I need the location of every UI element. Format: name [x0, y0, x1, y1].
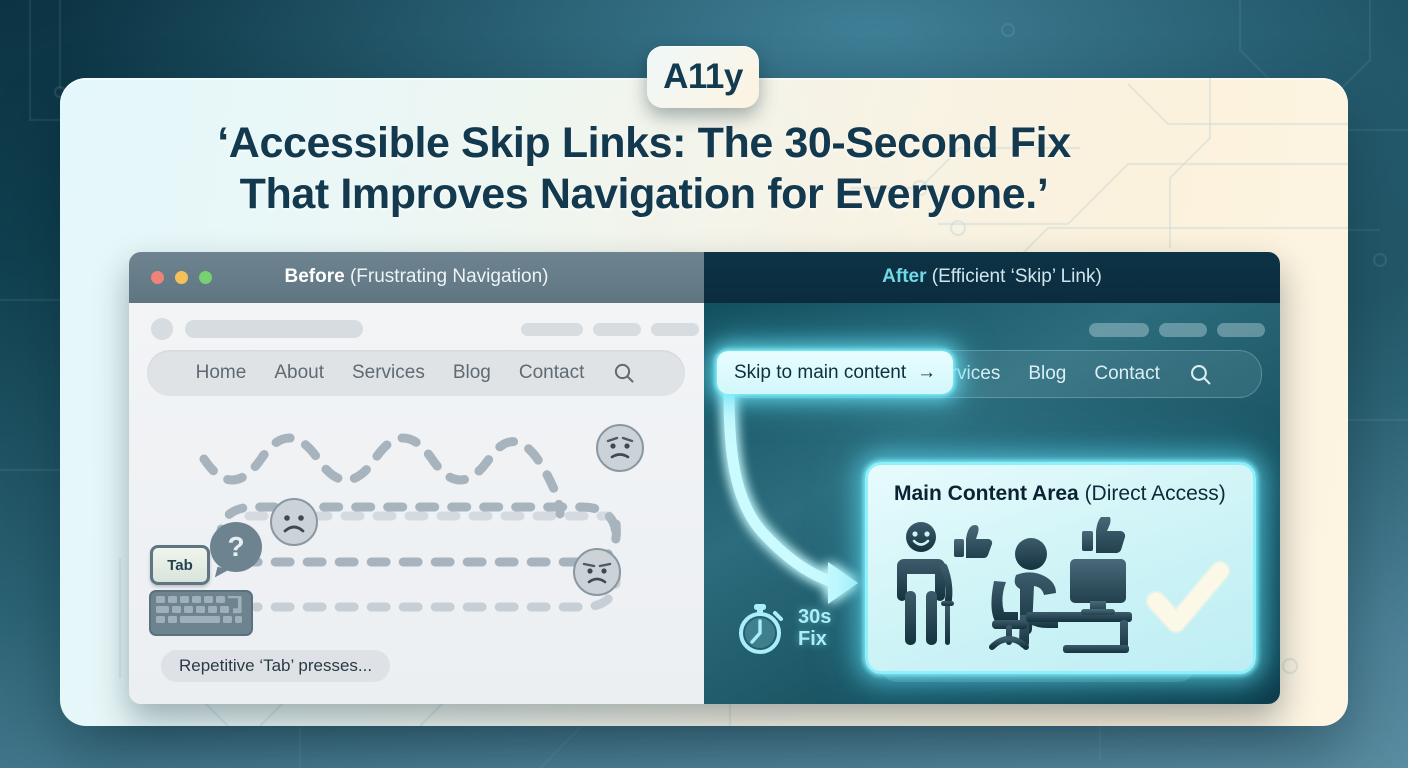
before-titlebar: Before (Frustrating Navigation) — [129, 252, 704, 303]
search-icon[interactable] — [612, 361, 636, 385]
before-nav-item-1[interactable]: About — [274, 362, 324, 384]
thumbs-up-icon-2 — [1082, 517, 1125, 553]
header-placeholder-2 — [1159, 323, 1207, 337]
timer-indicator: 30s Fix — [732, 599, 831, 657]
header-placeholder-3 — [1217, 323, 1265, 337]
timer-text: 30s Fix — [798, 606, 831, 650]
after-body: Home About Services Blog Contact — [704, 303, 1280, 704]
header-placeholder-1 — [1089, 323, 1149, 337]
header-placeholder-1 — [521, 323, 583, 336]
frustrated-face-1 — [596, 424, 644, 472]
after-nav-item-3[interactable]: Blog — [1028, 363, 1066, 385]
after-placeholder-row — [704, 316, 1280, 342]
after-title: After (Efficient ‘Skip’ Link) — [704, 266, 1280, 288]
after-nav-item-4[interactable]: Contact — [1094, 363, 1159, 385]
person-with-cane-icon — [897, 522, 954, 645]
before-nav-item-4[interactable]: Contact — [519, 362, 584, 384]
before-nav-item-2[interactable]: Services — [352, 362, 425, 384]
frustrated-face-3 — [573, 548, 621, 596]
tab-key-icon: Tab — [150, 545, 210, 585]
after-title-rest: (Efficient ‘Skip’ Link) — [927, 266, 1102, 287]
screenshot-root: A11y ‘Accessible Skip Links: The 30-Seco… — [0, 0, 1408, 768]
after-title-bold: After — [882, 266, 926, 287]
arrow-right-icon: → — [917, 362, 936, 384]
a11y-badge-label: A11y — [663, 57, 743, 97]
after-pane: After (Efficient ‘Skip’ Link) Home About… — [704, 252, 1280, 704]
accessibility-illustration — [888, 517, 1233, 657]
before-pane: Before (Frustrating Navigation) Home Abo… — [129, 252, 704, 704]
page-title-line1: ‘Accessible Skip Links: The 30-Second Fi… — [120, 118, 1168, 169]
main-content-area: Main Content Area (Direct Access) — [865, 462, 1256, 674]
before-caption: Repetitive ‘Tab’ presses... — [161, 650, 390, 682]
page-title-line2: That Improves Navigation for Everyone.’ — [120, 169, 1168, 220]
before-nav-item-0[interactable]: Home — [196, 362, 247, 384]
main-content-title-rest: (Direct Access) — [1079, 482, 1226, 505]
before-navbar: Home About Services Blog Contact — [147, 350, 685, 396]
browser-comparison: Before (Frustrating Navigation) Home Abo… — [129, 252, 1280, 704]
stopwatch-icon — [732, 599, 788, 657]
before-title: Before (Frustrating Navigation) — [129, 266, 704, 288]
checkmark-icon — [1156, 571, 1220, 623]
after-titlebar: After (Efficient ‘Skip’ Link) — [704, 252, 1280, 303]
header-placeholder-3 — [651, 323, 699, 336]
page-title: ‘Accessible Skip Links: The 30-Second Fi… — [120, 118, 1168, 220]
question-mark-label: ? — [227, 531, 244, 563]
timer-unit: Fix — [798, 628, 831, 650]
tab-key-label: Tab — [167, 557, 193, 574]
search-icon[interactable] — [1188, 362, 1213, 387]
sad-face-2 — [270, 498, 318, 546]
main-content-title-bold: Main Content Area — [894, 482, 1079, 505]
header-placeholder-2 — [593, 323, 641, 336]
before-nav-item-3[interactable]: Blog — [453, 362, 491, 384]
before-title-bold: Before — [285, 266, 345, 287]
before-placeholder-row — [129, 316, 704, 342]
question-bubble-icon: ? — [210, 522, 262, 572]
before-title-rest: (Frustrating Navigation) — [345, 266, 549, 287]
before-body: Home About Services Blog Contact — [129, 303, 704, 704]
timer-value: 30s — [798, 606, 831, 628]
thumbs-up-icon-1 — [954, 525, 992, 558]
skip-to-main-content-link[interactable]: Skip to main content → — [717, 351, 953, 394]
person-at-desk-icon — [991, 538, 1132, 653]
a11y-badge: A11y — [647, 46, 759, 108]
skip-link-label: Skip to main content — [734, 362, 906, 384]
keyboard-icon — [149, 590, 253, 636]
logo-placeholder — [185, 320, 363, 338]
main-content-title: Main Content Area (Direct Access) — [894, 482, 1226, 506]
avatar — [151, 318, 173, 340]
